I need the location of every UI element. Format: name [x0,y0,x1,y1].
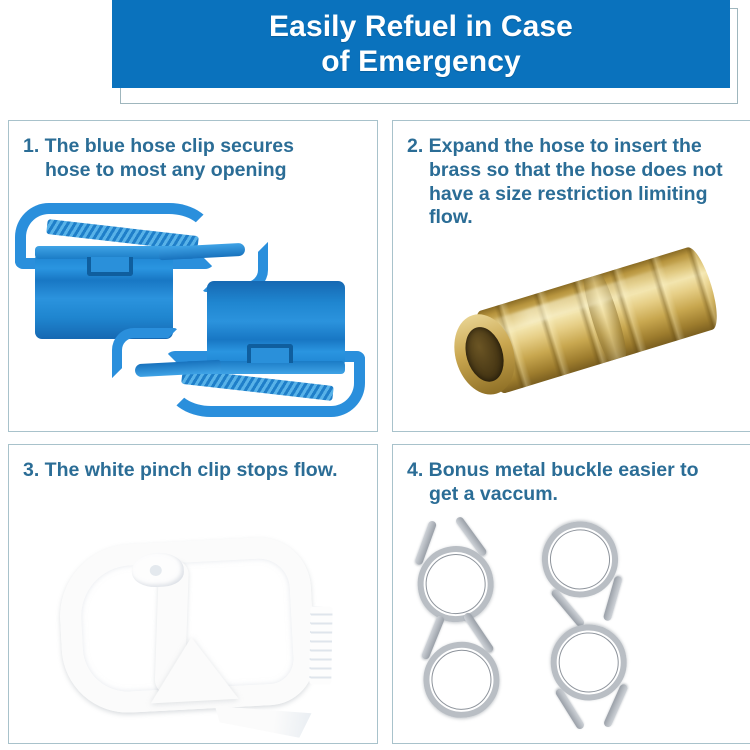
spring-clamp [412,618,526,732]
spring-clamp [525,611,636,722]
panel-3-caption: 3. The white pinch clip stops flow. [23,459,369,483]
page-title: Easily Refuel in Case of Emergency [269,9,573,79]
clip-latch-notch [87,257,133,276]
feature-panel-4: 4. Bonus metal buckle easier to get a va… [392,444,750,744]
white-pinch-clip-photo [9,505,377,743]
panel-4-caption: 4. Bonus metal buckle easier to get a va… [407,459,750,507]
white-pinch-clip [56,534,333,728]
header-banner: Easily Refuel in Case of Emergency [112,0,730,88]
pinch-clip-nub [131,552,185,589]
metal-spring-clamps-photo [393,511,750,743]
pinch-clip-tip [215,701,313,742]
feature-panel-1: 1. The blue hose clip secures hose to mo… [8,120,378,432]
blue-hose-clips-photo [9,199,377,429]
brass-barb-connector-photo [393,217,750,431]
panel-2-caption: 2. Expand the hose to insert the brass s… [407,135,750,230]
header-area: Easily Refuel in Case of Emergency [0,0,750,112]
panel-1-caption: 1. The blue hose clip secures hose to mo… [23,135,369,183]
feature-panel-2: 2. Expand the hose to insert the brass s… [392,120,750,432]
clip-latch-notch [247,344,293,363]
pinch-clip-teeth [309,606,332,684]
clip-body [207,281,345,365]
feature-panel-grid: 1. The blue hose clip secures hose to mo… [8,120,742,744]
brass-bore-hole [459,322,510,386]
spring-clamp [511,503,634,626]
pinch-clip-wedge [147,635,238,704]
brass-barb-fitting [444,244,724,404]
feature-panel-3: 3. The white pinch clip stops flow. [8,444,378,744]
hose-clip-lower [129,271,369,421]
